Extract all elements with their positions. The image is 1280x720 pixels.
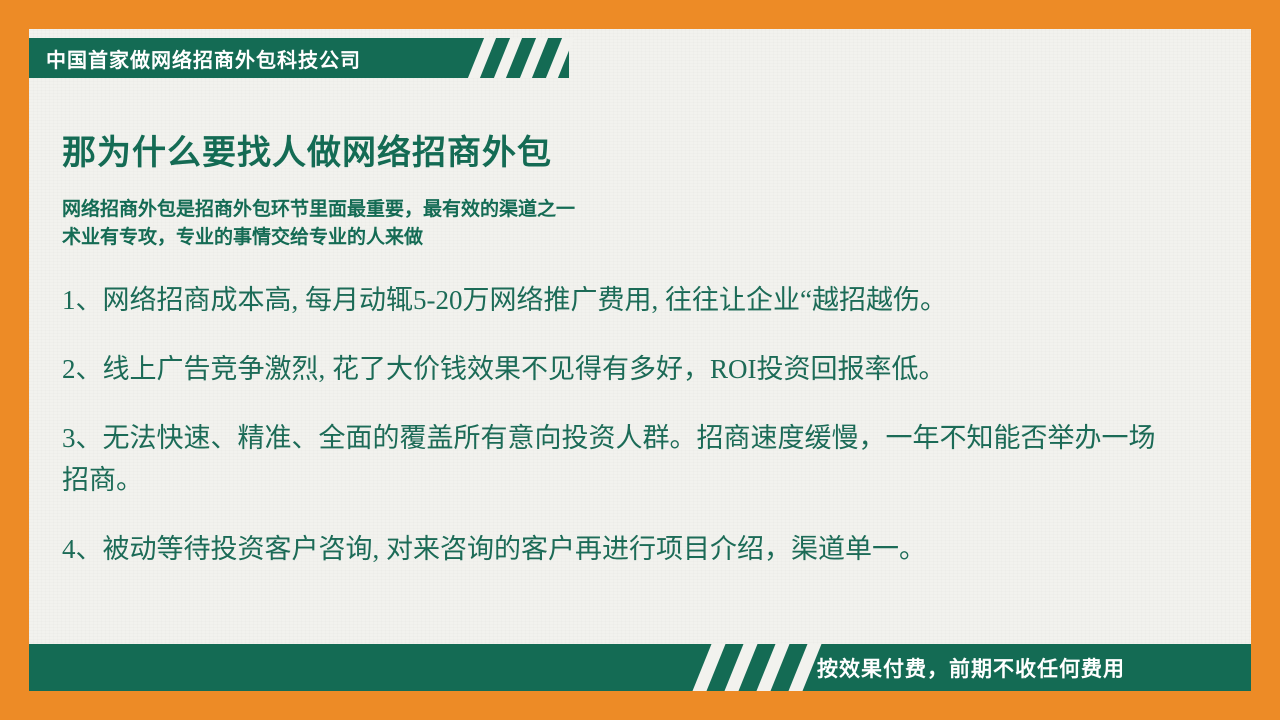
- list-item: 3、无法快速、精准、全面的覆盖所有意向投资人群。招商速度缓慢，一年不知能否举办一…: [62, 417, 1182, 501]
- subtitle: 网络招商外包是招商外包环节里面最重要，最有效的渠道之一 术业有专攻，专业的事情交…: [62, 196, 1202, 252]
- top-tag-label: 中国首家做网络招商外包科技公司: [46, 44, 361, 73]
- subtitle-line-1: 网络招商外包是招商外包环节里面最重要，最有效的渠道之一: [62, 196, 1202, 224]
- slide: 中国首家做网络招商外包科技公司 那为什么要找人做网络招商外包 网络招商外包是招商…: [0, 0, 1280, 720]
- bullet-list: 1、网络招商成本高, 每月动辄5-20万网络推广费用, 往往让企业“越招越伤。 …: [62, 279, 1202, 570]
- list-item: 4、被动等待投资客户咨询, 对来咨询的客户再进行项目介绍，渠道单一。: [62, 528, 1182, 570]
- subtitle-line-2: 术业有专攻，专业的事情交给专业的人来做: [62, 224, 1202, 252]
- page-title: 那为什么要找人做网络招商外包: [62, 125, 1202, 174]
- slide-content: 那为什么要找人做网络招商外包 网络招商外包是招商外包环节里面最重要，最有效的渠道…: [62, 125, 1202, 596]
- list-item: 1、网络招商成本高, 每月动辄5-20万网络推广费用, 往往让企业“越招越伤。: [62, 279, 1182, 321]
- footer-bar: 按效果付费，前期不收任何费用: [29, 644, 1251, 691]
- list-item: 2、线上广告竞争激烈, 花了大价钱效果不见得有多好，ROI投资回报率低。: [62, 348, 1182, 390]
- footer-label: 按效果付费，前期不收任何费用: [817, 653, 1125, 683]
